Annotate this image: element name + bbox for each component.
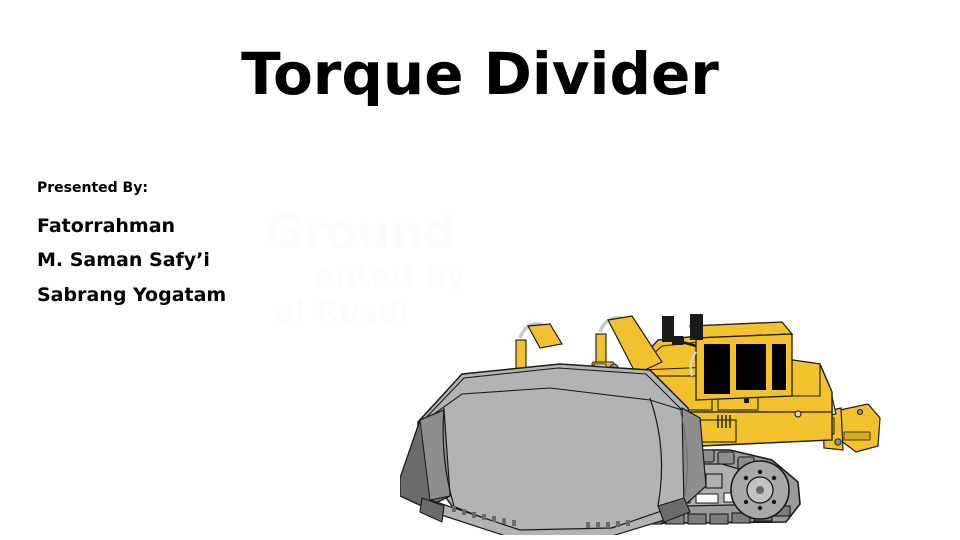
presenter-name-2: M. Saman Safy’i [37,243,253,278]
ghost-text-line-2: ented By [315,260,466,295]
presenter-name-3: Sabrang Yogatam [37,278,253,313]
dozer-blade [400,364,706,535]
bulldozer-illustration [400,300,890,535]
presentation-slide: Ground ented By al Rusdi Torque Divider … [0,0,960,540]
presenter-name-1: Fatorrahman [37,209,253,244]
background-ghost-artifacts: Ground ented By al Rusdi [255,135,875,325]
presenter-block: Presented By: Fatorrahman M. Saman Safy’… [37,180,253,312]
page-title: Torque Divider [0,44,960,105]
ghost-text-line-3: al Rusdi [275,295,410,330]
bulldozer-svg [400,300,890,535]
presented-by-label: Presented By: [37,180,253,198]
ghost-text-line-1: Ground [265,205,455,259]
